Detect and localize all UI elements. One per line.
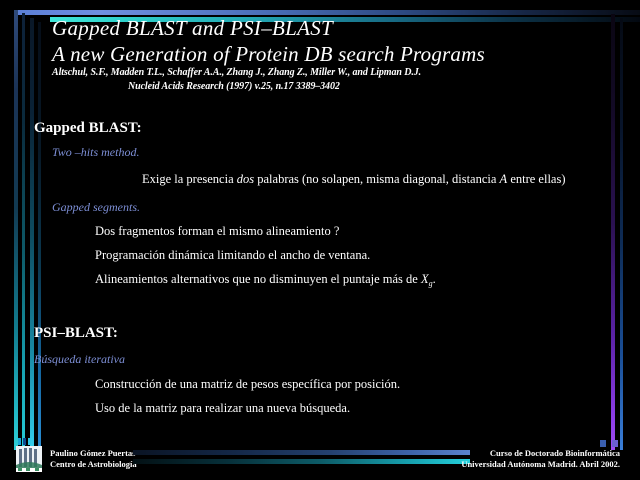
- left-vertical-rule-1: [14, 10, 18, 450]
- subheading-two-hits-method: Two –hits method.: [52, 145, 139, 160]
- footer-dot-purple: [612, 440, 618, 447]
- author-list: Altschul, S.F., Madden T.L., Schaffer A.…: [52, 67, 421, 78]
- right-vertical-rule-blue: [620, 18, 623, 450]
- footer-university-date: Universidad Autónoma Madrid. Abril 2002.: [461, 459, 620, 470]
- footer-cyan-rule: [133, 459, 470, 464]
- centro-de-astrobiologia-logo: [16, 446, 42, 472]
- slide-title-line-2: A new Generation of Protein DB search Pr…: [52, 42, 485, 67]
- subheading-gapped-segments: Gapped segments.: [52, 200, 140, 215]
- bullet-gapped-segments-3: Alineamientos alternativos que no dismin…: [95, 272, 436, 288]
- footer-blue-rule: [133, 450, 470, 455]
- bullet-psi-blast-2: Uso de la matriz para realizar una nueva…: [95, 401, 350, 416]
- subheading-busqueda-iterativa: Búsqueda iterativa: [34, 352, 125, 367]
- footer-author: Paulino Gómez Puertas Centro de Astrobio…: [50, 448, 137, 470]
- footer-institution: Centro de Astrobiología: [50, 459, 137, 470]
- footer-course: Curso de Doctorado Bioinformática Univer…: [461, 448, 620, 470]
- bullet-psi-blast-1: Construcción de una matriz de pesos espe…: [95, 377, 400, 392]
- left-vertical-rule-2: [22, 13, 25, 450]
- journal-citation: Nucleid Acids Research (1997) v.25, n.17…: [128, 81, 340, 92]
- left-vertical-rule-4: [38, 22, 41, 450]
- presentation-slide: Gapped BLAST and PSI–BLAST A new Generat…: [0, 0, 640, 480]
- footer-course-name: Curso de Doctorado Bioinformática: [461, 448, 620, 459]
- slide-title-line-1: Gapped BLAST and PSI–BLAST: [52, 16, 333, 41]
- logo-cap-bars: [18, 438, 36, 445]
- bullet-gapped-segments-1: Dos fragmentos forman el mismo alineamie…: [95, 224, 339, 239]
- footer-author-name: Paulino Gómez Puertas: [50, 448, 137, 459]
- section-heading-gapped-blast: Gapped BLAST:: [34, 120, 142, 137]
- bullet-two-hits-1: Exige la presencia dos palabras (no sola…: [142, 172, 566, 187]
- footer-dot-blue: [600, 440, 606, 447]
- bullet-gapped-segments-2: Programación dinámica limitando el ancho…: [95, 248, 370, 263]
- top-blue-rule: [14, 10, 640, 15]
- left-vertical-rule-3: [30, 18, 34, 450]
- section-heading-psi-blast: PSI–BLAST:: [34, 325, 118, 342]
- right-vertical-rule-purple: [611, 14, 615, 450]
